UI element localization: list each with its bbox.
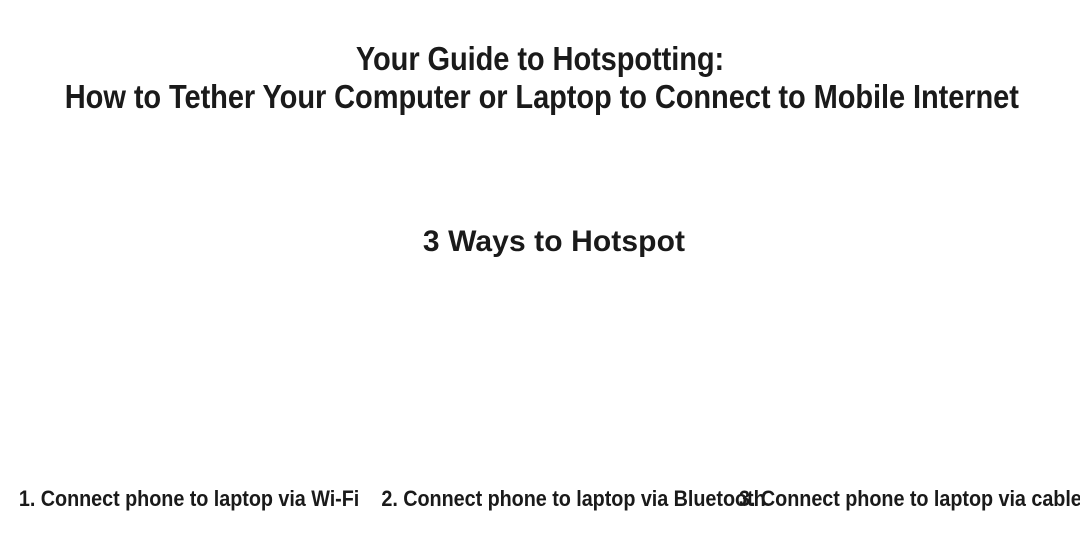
step-column-1 [0,282,360,478]
page-title: Your Guide to Hotspotting: How to Tether… [0,40,1080,116]
phone-to-laptop-cable-illustration [750,288,1050,478]
step-caption-cell-1: 1. Connect phone to laptop via Wi-Fi [0,487,360,511]
phone-to-laptop-wifi-illustration [30,288,330,478]
steps-caption-row: 1. Connect phone to laptop via Wi-Fi 2. … [0,487,1080,511]
step-caption-1: 1. Connect phone to laptop via Wi-Fi [19,487,359,511]
section-heading: 3 Ways to Hotspot [0,222,1080,262]
step-caption-3: 3. Connect phone to laptop via cable [739,487,1080,511]
step-caption-cell-3: 3. Connect phone to laptop via cable [720,487,1080,511]
page-title-line-1: Your Guide to Hotspotting: [65,40,1015,78]
steps-illustration-row [0,282,1080,478]
step-caption-cell-2: 2. Connect phone to laptop via Bluetooth [360,487,720,511]
infographic-page: Your Guide to Hotspotting: How to Tether… [0,0,1080,552]
step-column-3 [720,282,1080,478]
step-column-2 [360,282,720,478]
page-title-line-2: How to Tether Your Computer or Laptop to… [65,78,1015,116]
section-heading-text: 3 Ways to Hotspot [423,225,685,258]
step-caption-2: 2. Connect phone to laptop via Bluetooth [381,487,765,511]
phone-to-laptop-bluetooth-illustration [390,288,690,478]
